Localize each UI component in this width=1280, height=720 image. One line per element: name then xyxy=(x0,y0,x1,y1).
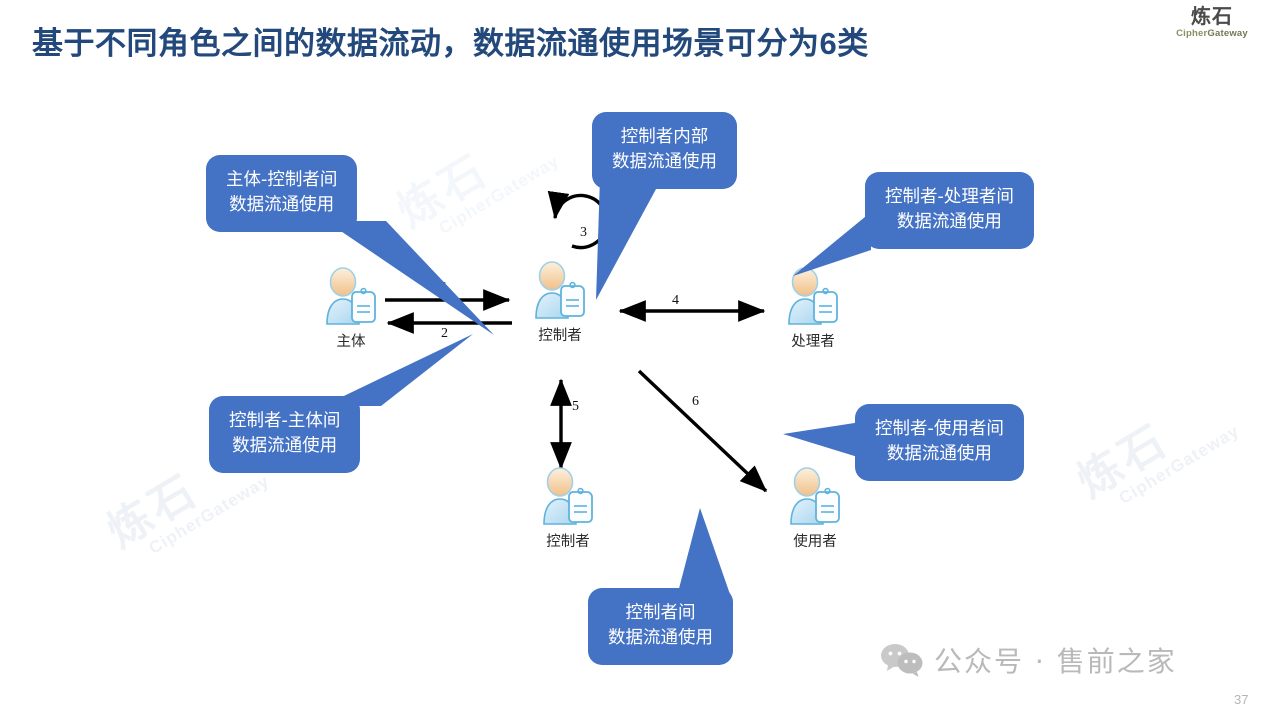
callout-line-1: 控制者-处理者间 xyxy=(885,187,1014,207)
node-subject[interactable]: 主体 xyxy=(296,266,406,351)
callout-bubble: 控制者-使用者间 数据流通使用 xyxy=(855,404,1024,481)
node-user[interactable]: 使用者 xyxy=(760,466,870,551)
edge-number-1: 1 xyxy=(441,280,448,296)
callout-controller-to-user[interactable]: 控制者-使用者间 数据流通使用 xyxy=(855,404,1024,481)
callout-line-1: 控制者-使用者间 xyxy=(875,419,1004,439)
callout-line-2: 数据流通使用 xyxy=(885,210,1014,235)
callout-line-2: 数据流通使用 xyxy=(608,626,713,651)
person-with-tag-icon xyxy=(537,466,599,528)
person-with-tag-icon xyxy=(784,466,846,528)
node-controller-secondary-label: 控制者 xyxy=(513,530,623,551)
callout-line-1: 控制者内部 xyxy=(621,127,709,147)
footer-watermark: 公众号 · 售前之家 xyxy=(880,640,1177,680)
callout-controller-to-processor[interactable]: 控制者-处理者间 数据流通使用 xyxy=(865,172,1034,249)
callout-bubble: 控制者内部 数据流通使用 xyxy=(592,112,737,189)
callout-controller-internal[interactable]: 控制者内部 数据流通使用 xyxy=(592,112,737,189)
callout-bubble: 控制者-处理者间 数据流通使用 xyxy=(865,172,1034,249)
node-subject-label: 主体 xyxy=(296,330,406,351)
edge-number-4: 4 xyxy=(672,293,679,309)
callout-line-2: 数据流通使用 xyxy=(612,150,717,175)
callout-line-2: 数据流通使用 xyxy=(229,434,340,459)
wechat-icon xyxy=(880,643,924,677)
node-processor-label: 处理者 xyxy=(758,330,868,351)
callout-line-2: 数据流通使用 xyxy=(226,193,337,218)
node-user-label: 使用者 xyxy=(760,530,870,551)
callout-bubble: 控制者-主体间 数据流通使用 xyxy=(209,396,360,473)
person-with-tag-icon xyxy=(320,266,382,328)
person-with-tag-icon xyxy=(529,260,591,322)
node-controller-label: 控制者 xyxy=(505,324,615,345)
callout-line-1: 控制者间 xyxy=(626,603,696,623)
page-number: 37 xyxy=(1234,692,1248,707)
callout-line-1: 控制者-主体间 xyxy=(229,411,340,431)
node-processor[interactable]: 处理者 xyxy=(758,266,868,351)
edge-6-arrow xyxy=(639,371,766,491)
edge-number-6: 6 xyxy=(692,394,699,410)
edge-number-2: 2 xyxy=(441,326,448,342)
footer-watermark-text: 公众号 · 售前之家 xyxy=(934,640,1177,680)
node-controller-secondary[interactable]: 控制者 xyxy=(513,466,623,551)
callout-bubble: 主体-控制者间 数据流通使用 xyxy=(206,155,357,232)
callout-line-2: 数据流通使用 xyxy=(875,442,1004,467)
callout-subject-to-controller[interactable]: 主体-控制者间 数据流通使用 xyxy=(206,155,357,232)
callout-controller-to-subject[interactable]: 控制者-主体间 数据流通使用 xyxy=(209,396,360,473)
data-flow-diagram: 1 2 3 4 5 6 xyxy=(0,0,1280,720)
person-with-tag-icon xyxy=(782,266,844,328)
callout-between-controllers[interactable]: 控制者间 数据流通使用 xyxy=(588,588,733,665)
callout-bubble: 控制者间 数据流通使用 xyxy=(588,588,733,665)
callout-line-1: 主体-控制者间 xyxy=(226,170,337,190)
node-controller[interactable]: 控制者 xyxy=(505,260,615,345)
slide-canvas: 基于不同角色之间的数据流动，数据流通使用场景可分为6类 炼石 CipherGat… xyxy=(0,0,1280,720)
edge-number-5: 5 xyxy=(572,399,579,415)
edge-number-3: 3 xyxy=(580,225,587,241)
